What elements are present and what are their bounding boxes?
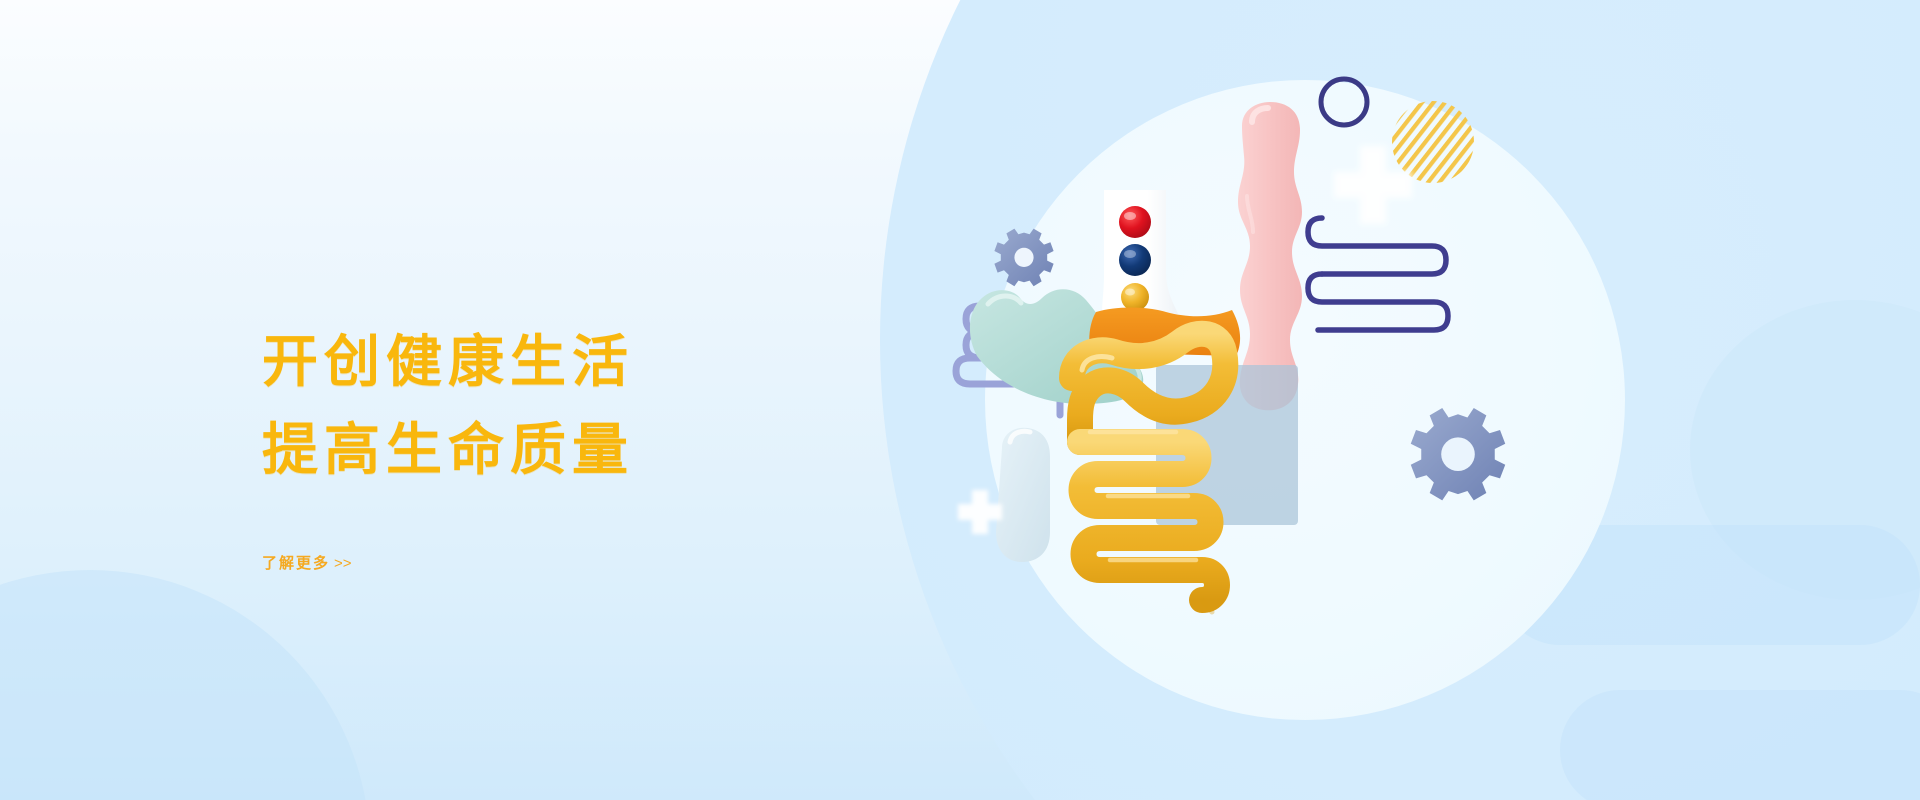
learn-more-label: 了解更多 <box>262 555 330 572</box>
headline-line-1: 开创健康生活 <box>262 318 882 406</box>
gear-small-icon <box>994 229 1053 287</box>
headline-line-2: 提高生命质量 <box>262 406 882 494</box>
navy-zigzag-icon <box>1308 218 1448 330</box>
illustration-graphic <box>950 60 1640 740</box>
background-corner-circle-bottom-left <box>0 570 370 800</box>
dot-red-icon <box>1119 206 1151 238</box>
learn-more-link[interactable]: 了解更多>> <box>262 552 352 573</box>
cross-white-small-icon <box>958 490 1002 534</box>
digestive-system-illustration <box>950 60 1640 740</box>
background-pill-right-upper <box>1690 300 1920 600</box>
hero-banner: 开创健康生活 提高生命质量 了解更多>> <box>0 0 1920 800</box>
dot-navy-icon <box>1119 244 1151 276</box>
dot-yellow-icon <box>1121 283 1149 311</box>
striped-circle-yellow-icon <box>1392 101 1474 183</box>
pale-blue-organ <box>996 428 1050 562</box>
esophagus-pink-organ <box>1238 102 1302 410</box>
hero-copy-block: 开创健康生活 提高生命质量 了解更多>> <box>262 318 882 573</box>
gear-large-icon <box>1411 408 1506 500</box>
navy-ring-icon <box>1321 79 1367 125</box>
chevron-right-icon: >> <box>334 555 352 572</box>
